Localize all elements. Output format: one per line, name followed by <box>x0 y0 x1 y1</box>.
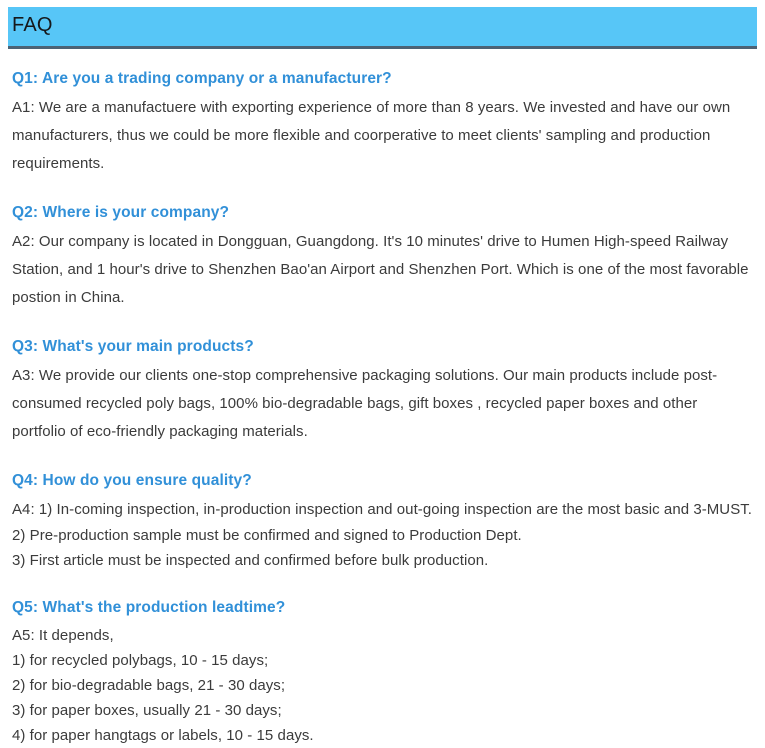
faq-answer-q4: A4: 1) In-coming inspection, in-producti… <box>12 496 753 573</box>
faq-answer-line: 4) for paper hangtags or labels, 10 - 15… <box>12 723 753 748</box>
faq-page: FAQ Q1: Are you a trading company or a m… <box>0 0 765 748</box>
faq-content: Q1: Are you a trading company or a manuf… <box>12 66 753 748</box>
page-title: FAQ <box>12 13 53 37</box>
faq-answer-line: 3) for paper boxes, usually 21 - 30 days… <box>12 698 753 723</box>
faq-question-q2: Q2: Where is your company? <box>12 200 753 226</box>
faq-answer-q3: A3: We provide our clients one-stop comp… <box>12 362 753 446</box>
faq-question-q3: Q3: What's your main products? <box>12 334 753 360</box>
faq-answer-line: 3) First article must be inspected and c… <box>12 548 753 573</box>
faq-question-q1: Q1: Are you a trading company or a manuf… <box>12 66 753 92</box>
faq-answer-q5: A5: It depends, 1) for recycled polybags… <box>12 623 753 748</box>
faq-item-q2: Q2: Where is your company? A2: Our compa… <box>12 200 753 312</box>
faq-question-q4: Q4: How do you ensure quality? <box>12 468 753 494</box>
faq-answer-line: A5: It depends, <box>12 623 753 648</box>
faq-answer-line: 2) for bio-degradable bags, 21 - 30 days… <box>12 673 753 698</box>
faq-header-banner: FAQ <box>8 7 757 49</box>
faq-item-q4: Q4: How do you ensure quality? A4: 1) In… <box>12 468 753 573</box>
faq-answer-line: 1) for recycled polybags, 10 - 15 days; <box>12 648 753 673</box>
faq-answer-q1: A1: We are a manufactuere with exporting… <box>12 94 753 178</box>
faq-question-q5: Q5: What's the production leadtime? <box>12 595 753 621</box>
faq-item-q5: Q5: What's the production leadtime? A5: … <box>12 595 753 748</box>
faq-item-q3: Q3: What's your main products? A3: We pr… <box>12 334 753 446</box>
faq-item-q1: Q1: Are you a trading company or a manuf… <box>12 66 753 178</box>
faq-answer-line: A4: 1) In-coming inspection, in-producti… <box>12 496 753 523</box>
faq-answer-q2: A2: Our company is located in Dongguan, … <box>12 228 753 312</box>
faq-answer-line: 2) Pre-production sample must be confirm… <box>12 523 753 548</box>
